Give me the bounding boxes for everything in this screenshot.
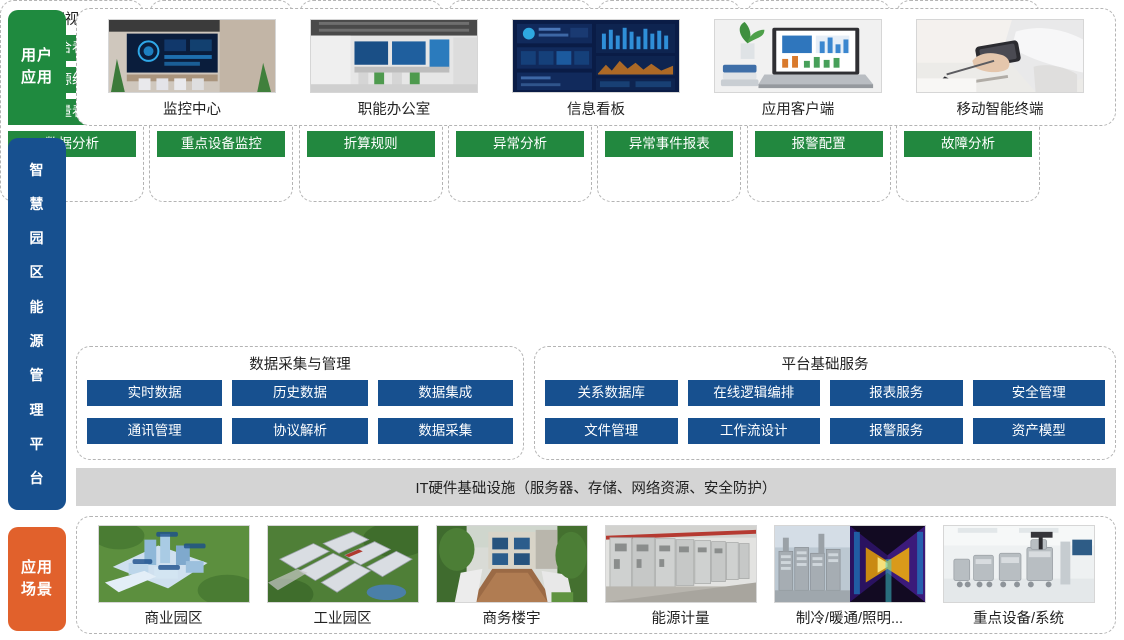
mobile-photo-icon (916, 19, 1084, 93)
scene-caption: 能源计量 (652, 607, 710, 628)
app-caption: 信息看板 (567, 98, 625, 119)
service-chip[interactable]: 文件管理 (545, 418, 678, 444)
scene-caption: 制冷/暖通/照明... (796, 607, 903, 628)
data-acquisition-chip-grid: 实时数据 历史数据 数据集成 通讯管理 协议解析 数据采集 (87, 380, 513, 450)
panel-title: 数据采集与管理 (87, 353, 513, 374)
scene-card-hvac-lighting[interactable]: 制冷/暖通/照明... (770, 525, 930, 628)
module-chip[interactable]: 重点设备监控 (157, 131, 285, 157)
app-caption: 应用客户端 (762, 98, 835, 119)
scene-caption: 重点设备/系统 (973, 607, 1064, 628)
app-caption: 监控中心 (163, 98, 221, 119)
it-infrastructure-label: IT硬件基础设施（服务器、存储、网络资源、安全防护） (416, 477, 777, 498)
app-card-functional-office[interactable]: 职能办公室 (308, 19, 480, 119)
scene-card-energy-metering[interactable]: 能源计量 (601, 525, 761, 628)
band-label-char: 园 (30, 221, 45, 255)
user-application-panel: 监控中心 (76, 8, 1116, 126)
service-chip[interactable]: 工作流设计 (688, 418, 821, 444)
service-chip[interactable]: 资产模型 (973, 418, 1106, 444)
module-chip[interactable]: 折算规则 (307, 131, 435, 157)
service-chip[interactable]: 报表服务 (830, 380, 963, 406)
service-chip[interactable]: 数据采集 (378, 418, 513, 444)
industrial-park-photo-icon (267, 525, 419, 603)
dashboard-photo-icon (512, 19, 680, 93)
key-equipment-photo-icon (943, 525, 1095, 603)
app-card-monitoring-center[interactable]: 监控中心 (106, 19, 278, 119)
service-chip[interactable]: 历史数据 (232, 380, 367, 406)
module-chip[interactable]: 异常分析 (456, 131, 584, 157)
panel-title: 平台基础服务 (545, 353, 1105, 374)
band-label-char: 慧 (30, 187, 45, 221)
band-label-user-application: 用户 应用 (8, 10, 66, 124)
application-scenario-list: 商业园区 (89, 525, 1103, 629)
band-label-line: 用户 (21, 45, 53, 67)
band-label-char: 理 (30, 393, 45, 427)
app-card-information-dashboard[interactable]: 信息看板 (510, 19, 682, 119)
scene-caption: 商业园区 (145, 607, 203, 628)
app-card-mobile-terminal[interactable]: 移动智能终端 (914, 19, 1086, 119)
band-label-char: 平 (30, 427, 45, 461)
scene-card-commercial-park[interactable]: 商业园区 (94, 525, 254, 628)
office-photo-icon (310, 19, 478, 93)
app-caption: 移动智能终端 (957, 98, 1044, 119)
module-chip[interactable]: 故障分析 (904, 131, 1032, 157)
scene-card-key-equipment[interactable]: 重点设备/系统 (939, 525, 1099, 628)
service-chip[interactable]: 实时数据 (87, 380, 222, 406)
band-label-char: 源 (30, 324, 45, 358)
module-chip[interactable]: 报警配置 (755, 131, 883, 157)
band-label-char: 区 (30, 255, 45, 289)
application-scenario-panel: 商业园区 (76, 516, 1116, 634)
service-chip[interactable]: 在线逻辑编排 (688, 380, 821, 406)
scene-card-industrial-park[interactable]: 工业园区 (263, 525, 423, 628)
band-label-line: 场景 (21, 579, 53, 601)
band-label-char: 能 (30, 290, 45, 324)
commercial-park-photo-icon (98, 525, 250, 603)
service-chip[interactable]: 报警服务 (830, 418, 963, 444)
scene-caption: 工业园区 (314, 607, 372, 628)
module-chip[interactable]: 异常事件报表 (605, 131, 733, 157)
band-label-application-scenario: 应用 场景 (8, 527, 66, 631)
band-label-char: 管 (30, 358, 45, 392)
laptop-photo-icon (714, 19, 882, 93)
it-infrastructure-bar: IT硬件基础设施（服务器、存储、网络资源、安全防护） (76, 468, 1116, 506)
service-chip[interactable]: 通讯管理 (87, 418, 222, 444)
platform-base-services-panel: 平台基础服务 关系数据库 在线逻辑编排 报表服务 安全管理 文件管理 工作流设计… (534, 346, 1116, 460)
office-building-photo-icon (436, 525, 588, 603)
band-label-char: 台 (30, 461, 45, 495)
service-chip[interactable]: 安全管理 (973, 380, 1106, 406)
band-label-char: 智 (30, 153, 45, 187)
architecture-diagram: 用户 应用 智 慧 园 区 能 源 管 理 平 台 应用 场景 (0, 0, 1124, 640)
band-label-line: 应用 (21, 67, 53, 89)
app-card-application-client[interactable]: 应用客户端 (712, 19, 884, 119)
service-chip[interactable]: 关系数据库 (545, 380, 678, 406)
scene-caption: 商务楼宇 (483, 607, 541, 628)
hvac-lighting-photo-icon (774, 525, 926, 603)
data-acquisition-panel: 数据采集与管理 实时数据 历史数据 数据集成 通讯管理 协议解析 数据采集 (76, 346, 524, 460)
user-application-list: 监控中心 (91, 19, 1101, 119)
scene-card-office-building[interactable]: 商务楼宇 (432, 525, 592, 628)
band-label-platform: 智 慧 园 区 能 源 管 理 平 台 (8, 138, 66, 510)
service-chip[interactable]: 协议解析 (232, 418, 367, 444)
switchgear-photo-icon (605, 525, 757, 603)
services-row: 数据采集与管理 实时数据 历史数据 数据集成 通讯管理 协议解析 数据采集 平台… (76, 346, 1116, 460)
platform-base-chip-grid: 关系数据库 在线逻辑编排 报表服务 安全管理 文件管理 工作流设计 报警服务 资… (545, 380, 1105, 450)
control-room-photo-icon (108, 19, 276, 93)
app-caption: 职能办公室 (358, 98, 431, 119)
band-label-line: 应用 (21, 557, 53, 579)
service-chip[interactable]: 数据集成 (378, 380, 513, 406)
